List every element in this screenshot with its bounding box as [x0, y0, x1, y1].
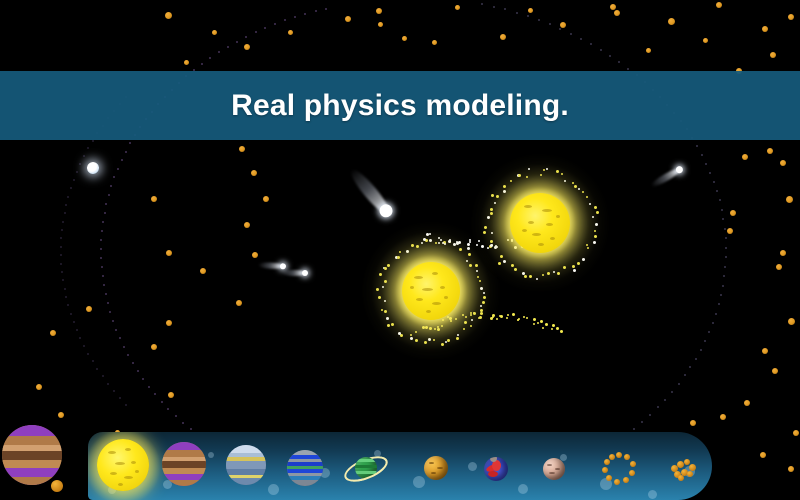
asteroid-particle [50, 330, 56, 336]
asteroid-particle [376, 8, 382, 14]
orbit-path-dot [182, 422, 184, 424]
asteroid-particle [58, 412, 64, 418]
asteroid-particle [772, 368, 778, 374]
asteroid-particle [560, 22, 566, 28]
comet-mid-left-2[interactable] [282, 270, 306, 276]
orbit-path-dot [725, 237, 727, 239]
asteroid-particle [610, 4, 616, 10]
dock-bubble [648, 490, 657, 499]
asteroid-particle [236, 300, 242, 306]
orbit-path-dot [137, 370, 139, 372]
orbit-path-dot [722, 285, 724, 287]
debris-particle [537, 322, 539, 324]
comet-head [302, 270, 308, 276]
asteroid-particle [780, 160, 786, 166]
dock-bubble [268, 484, 279, 495]
asteroid-particle [703, 38, 708, 43]
orbit-path-dot [167, 408, 169, 410]
orbit-path-dot [102, 375, 104, 377]
orbit-path-dot [715, 313, 717, 315]
orbit-path-dot [274, 23, 276, 25]
orbit-path-dot [549, 23, 551, 25]
asteroid-particle [646, 48, 651, 53]
orbit-path-dot [104, 212, 106, 214]
orbit-path-dot [704, 340, 706, 342]
orbit-path-dot [218, 51, 220, 53]
asteroid-particle [200, 268, 206, 274]
app-root: Real physics modeling. [0, 0, 800, 500]
comet-center[interactable] [347, 165, 394, 218]
orbit-path-dot [60, 254, 62, 256]
dock-bubble [468, 462, 477, 471]
orbit-path-dot [76, 329, 78, 331]
orbit-path-dot [102, 221, 104, 223]
dock-item-asteroid-cluster[interactable] [669, 457, 697, 481]
orbit-path-dot [633, 428, 635, 430]
orbit-path-dot [712, 322, 714, 324]
asteroid-particle [263, 196, 269, 202]
orbit-path-dot [100, 248, 102, 250]
asteroid-particle [770, 52, 776, 58]
asteroid-particle [690, 420, 696, 426]
orbit-path-dot [61, 229, 63, 231]
orbit-path-dot [67, 304, 69, 306]
orbit-path-dot [689, 366, 691, 368]
orbit-path-dot [709, 172, 711, 174]
asteroid-particle [239, 146, 245, 152]
asteroid-particle [780, 250, 786, 256]
orbit-path-dot [73, 179, 75, 181]
orbit-path-dot [110, 185, 112, 187]
asteroid-particle [432, 40, 437, 45]
orbit-path-dot [101, 266, 103, 268]
orbit-path-dot [62, 221, 64, 223]
orbit-path-dot [264, 27, 266, 29]
small-moon-left[interactable] [51, 480, 63, 492]
asteroid-particle [288, 30, 293, 35]
orbit-path-dot [60, 263, 62, 265]
orbit-path-dot [627, 68, 629, 70]
orbit-path-dot [580, 38, 582, 40]
asteroid-particle [36, 384, 42, 390]
asteroid-particle [668, 18, 675, 25]
asteroid-particle [614, 10, 620, 16]
asteroid-particle [788, 318, 795, 325]
orbit-path-dot [83, 155, 85, 157]
orbit-path-dot [695, 358, 697, 360]
debris-particle [533, 318, 536, 321]
asteroid-particle [252, 252, 258, 258]
orbit-path-dot [721, 209, 723, 211]
orbit-path-dot [101, 230, 103, 232]
orbit-path-dot [481, 3, 483, 5]
orbit-path-dot [92, 360, 94, 362]
asteroid-particle [251, 170, 257, 176]
orbit-path-dot [132, 362, 134, 364]
dock-item-asteroid-ring[interactable] [602, 452, 636, 486]
orbit-path-dot [83, 345, 85, 347]
orbit-path-dot [705, 163, 707, 165]
orbit-path-dot [107, 302, 109, 304]
orbit-path-dot [725, 256, 727, 258]
dock-bubble [208, 452, 214, 458]
orbit-path-dot [725, 247, 727, 249]
promo-banner: Real physics modeling. [0, 71, 800, 140]
dock-item-molten-planet[interactable] [484, 457, 508, 481]
debris-particle [507, 314, 509, 316]
orbit-path-dot [245, 36, 247, 38]
orbit-path-dot [201, 63, 203, 65]
asteroid-particle [500, 34, 506, 40]
orbit-path-dot [701, 154, 703, 156]
dock-item-asteroid[interactable] [424, 456, 448, 480]
asteroid-particle [762, 348, 768, 354]
orbit-path-dot [538, 19, 540, 21]
debris-particle [506, 317, 508, 319]
asteroid-particle [716, 2, 722, 8]
orbit-path-dot [708, 331, 710, 333]
orbit-path-dot [493, 6, 495, 8]
debris-particle [551, 328, 553, 330]
orbit-path-dot [70, 187, 72, 189]
dock-item-ice-planet[interactable] [226, 445, 266, 485]
orbit-path-dot [121, 159, 123, 161]
orbit-path-dot [112, 320, 114, 322]
debris-particle [512, 313, 515, 316]
dock-bubble [413, 476, 425, 488]
orbit-path-dot [105, 293, 107, 295]
dock-item-star[interactable] [97, 439, 149, 491]
orbit-path-dot [64, 212, 66, 214]
orbit-path-dot [724, 228, 726, 230]
asteroid-particle [730, 210, 736, 216]
orbit-path-dot [109, 311, 111, 313]
orbit-path-dot [684, 374, 686, 376]
orbit-path-dot [154, 393, 156, 395]
orbit-path-dot [100, 239, 102, 241]
orbit-path-dot [107, 383, 109, 385]
debris-particle [542, 327, 544, 329]
body-selector-dock[interactable] [88, 432, 712, 500]
debris-particle [552, 324, 555, 327]
orbit-path-dot [148, 386, 150, 388]
orbit-path-dot [724, 266, 726, 268]
orbit-path-dot [102, 275, 104, 277]
dock-bubble [518, 484, 528, 494]
orbit-path-dot [79, 163, 81, 165]
asteroid-particle [244, 222, 250, 228]
orbit-path-dot [123, 346, 125, 348]
orbit-path-dot [119, 397, 121, 399]
debris-particle [526, 317, 528, 319]
asteroid-particle [727, 228, 733, 234]
debris-particle [523, 316, 525, 318]
orbit-path-dot [255, 31, 257, 33]
banded-planet-left[interactable] [2, 425, 62, 485]
asteroid-particle [212, 30, 217, 35]
orbit-path-dot [516, 12, 518, 14]
orbit-path-dot [108, 194, 110, 196]
orbit-path-dot [65, 204, 67, 206]
orbit-path-dot [718, 303, 720, 305]
asteroid-particle [378, 22, 383, 27]
orbit-path-dot [723, 275, 725, 277]
asteroid-particle [786, 196, 793, 203]
asteroid-particle [151, 344, 157, 350]
orbit-path-dot [236, 41, 238, 43]
orbit-path-dot [65, 296, 67, 298]
orbit-path-dot [719, 199, 721, 201]
orbit-path-dot [161, 401, 163, 403]
orbit-path-dot [190, 428, 192, 430]
orbit-path-dot [671, 391, 673, 393]
orbit-path-dot [209, 57, 211, 59]
orbit-path-dot [559, 28, 561, 30]
orbit-path-dot [127, 354, 129, 356]
debris-particle [556, 327, 559, 330]
comet-mid-left[interactable] [258, 262, 284, 269]
orbit-path-dot [115, 329, 117, 331]
debris-particle [540, 320, 543, 323]
orbit-path-dot [117, 168, 119, 170]
orbit-path-dot [125, 404, 127, 406]
orbit-path-dot [678, 383, 680, 385]
asteroid-particle [788, 14, 794, 20]
orbit-path-dot [590, 43, 592, 45]
debris-particle [496, 318, 498, 320]
debris-particle [545, 323, 548, 326]
orbit-path-dot [100, 257, 102, 259]
orbit-path-dot [62, 279, 64, 281]
asteroid-particle [244, 44, 250, 50]
orbit-path-dot [722, 218, 724, 220]
asteroid-particle [184, 60, 189, 65]
orbit-path-dot [504, 8, 506, 10]
orbit-path-dot [60, 246, 62, 248]
asteroid-particle [166, 250, 172, 256]
asteroid-particle [151, 196, 157, 202]
debris-particle [517, 319, 519, 321]
orbit-path-dot [61, 271, 63, 273]
bright-star-left[interactable] [87, 162, 99, 174]
orbit-path-dot [600, 49, 602, 51]
orbit-path-dot [664, 399, 666, 401]
asteroid-particle [168, 392, 174, 398]
orbit-path-dot [64, 288, 66, 290]
orbit-path-dot [70, 313, 72, 315]
orbit-path-dot [119, 337, 121, 339]
asteroid-particle [86, 306, 92, 312]
asteroid-particle [720, 414, 726, 420]
binary-star-b[interactable] [470, 153, 610, 293]
asteroid-particle [528, 8, 533, 13]
dock-item-gas-giant[interactable] [287, 450, 323, 486]
orbit-path-dot [113, 176, 115, 178]
asteroid-particle [760, 452, 766, 458]
orbit-path-dot [60, 237, 62, 239]
orbit-path-dot [649, 414, 651, 416]
asteroid-particle [788, 466, 794, 472]
orbit-path-dot [87, 353, 89, 355]
asteroid-particle [767, 148, 773, 154]
orbit-path-dot [227, 46, 229, 48]
orbit-path-dot [284, 19, 286, 21]
dock-item-rocky-planet[interactable] [162, 442, 206, 486]
orbit-path-dot [175, 415, 177, 417]
banner-text: Real physics modeling. [231, 91, 569, 121]
orbit-path-dot [716, 190, 718, 192]
orbit-path-dot [67, 196, 69, 198]
asteroid-particle [793, 430, 799, 436]
star-core [510, 193, 570, 253]
orbit-path-dot [294, 16, 296, 18]
dock-item-ringed-planet[interactable] [342, 452, 388, 484]
orbit-path-dot [142, 378, 144, 380]
orbit-path-dot [96, 368, 98, 370]
asteroid-particle [762, 26, 768, 32]
asteroid-particle [402, 36, 407, 41]
asteroid-particle [744, 400, 750, 406]
comet-head [280, 263, 286, 269]
orbit-path-dot [713, 181, 715, 183]
orbit-path-dot [315, 10, 317, 12]
orbit-path-dot [641, 421, 643, 423]
debris-particle [500, 315, 503, 318]
orbit-path-dot [609, 55, 611, 57]
orbit-path-dot [304, 13, 306, 15]
orbit-path-dot [129, 142, 131, 144]
asteroid-particle [165, 12, 172, 19]
orbit-path-dot [325, 8, 327, 10]
orbit-path-dot [103, 284, 105, 286]
asteroid-particle [455, 5, 460, 10]
orbit-path-dot [105, 203, 107, 205]
orbit-path-dot [125, 151, 127, 153]
orbit-path-dot [696, 145, 698, 147]
asteroid-particle [166, 320, 172, 326]
orbit-path-dot [113, 390, 115, 392]
orbit-path-dot [657, 406, 659, 408]
asteroid-particle [345, 16, 351, 22]
orbit-path-dot [720, 294, 722, 296]
orbit-path-dot [618, 61, 620, 63]
asteroid-particle [742, 154, 748, 160]
dock-item-dwarf-planet[interactable] [543, 458, 565, 480]
comet-top-right[interactable] [649, 165, 682, 188]
orbit-path-dot [87, 147, 89, 149]
asteroid-particle [776, 264, 782, 270]
debris-particle [533, 323, 535, 325]
orbit-path-dot [79, 337, 81, 339]
debris-particle [560, 330, 563, 333]
orbit-path-dot [527, 15, 529, 17]
orbit-path-dot [570, 33, 572, 35]
orbit-path-dot [73, 321, 75, 323]
star-core [402, 262, 460, 320]
orbit-path-dot [700, 349, 702, 351]
orbit-path-dot [76, 171, 78, 173]
